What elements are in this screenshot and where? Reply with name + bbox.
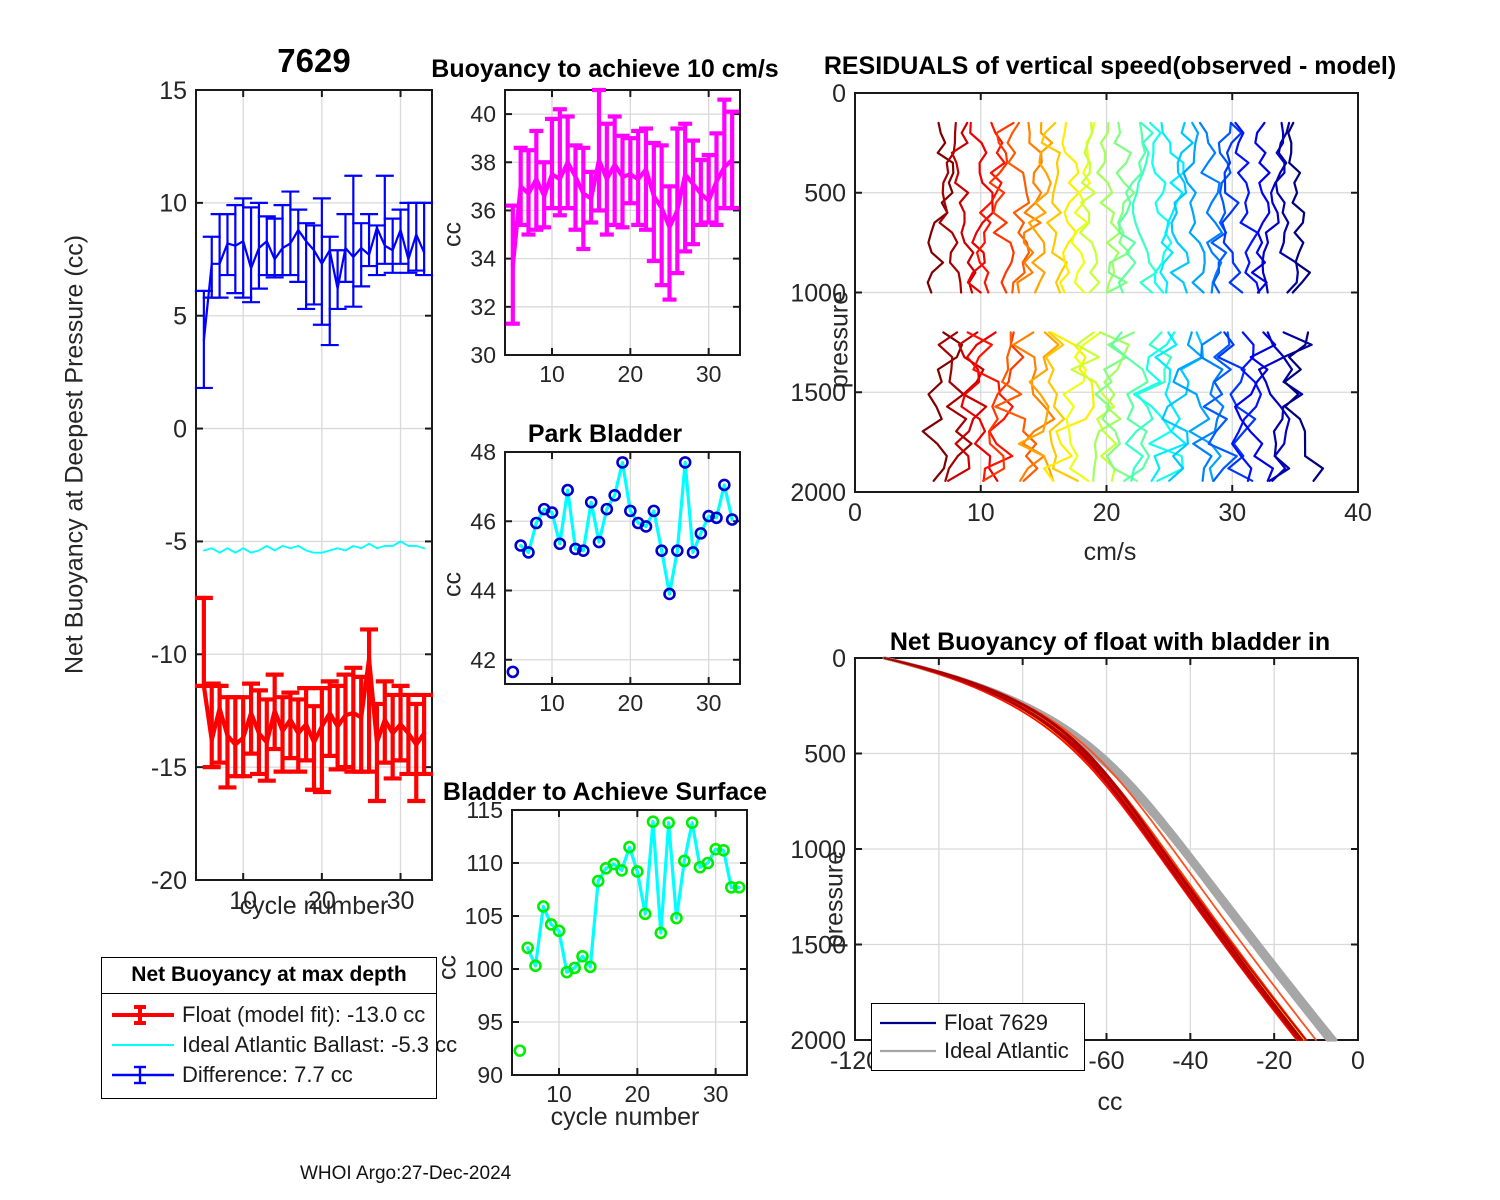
axis-label-x-bladder: cycle number	[485, 1103, 765, 1132]
chart-bladder-surface: 1020309095100105110115	[430, 778, 780, 1138]
data-layer-buoyancy	[506, 90, 739, 324]
tick-label-y: 32	[470, 294, 496, 320]
tick-label-y: 0	[173, 415, 187, 443]
tick-label-y: 2000	[790, 479, 846, 507]
footer-stamp: WHOI Argo:27-Dec-2024	[300, 1163, 511, 1185]
residual-profile-lower	[1112, 332, 1149, 480]
tick-label-y: 36	[470, 198, 496, 224]
tick-label-y: 34	[470, 246, 496, 272]
tick-label-y: 38	[470, 149, 496, 175]
tick-label-y: 100	[465, 956, 503, 982]
residual-profile-upper	[1072, 123, 1094, 293]
panel-park-bladder: Park Bladder 10203042444648 cc	[440, 420, 770, 750]
tick-label-y: 42	[470, 647, 496, 673]
axis-label-y-bladder-in: pressure	[821, 790, 850, 1010]
legend-label-ideal-atlantic: Ideal Atlantic	[944, 1038, 1069, 1064]
tick-label-y: 5	[173, 302, 187, 330]
ideal-ballast-line	[204, 541, 424, 552]
panel-title-bladder-in: Net Buoyancy of float with bladder in	[810, 628, 1410, 657]
residual-profile-upper	[1029, 123, 1052, 293]
tick-label-x: 0	[1351, 1047, 1365, 1075]
axes-box	[505, 452, 740, 684]
legend-label-float-7629: Float 7629	[944, 1010, 1048, 1036]
tick-label-y: 44	[470, 578, 496, 604]
panel-title-residuals: RESIDUALS of vertical speed(observed - m…	[810, 52, 1410, 81]
tick-label-y: 95	[477, 1009, 503, 1035]
tick-label-y: 0	[832, 80, 846, 108]
chart-park-bladder: 10203042444648	[440, 420, 770, 750]
tick-label-x: 10	[967, 499, 995, 527]
data-layer-park	[508, 457, 737, 676]
tick-label-y: 15	[159, 77, 187, 105]
axis-label-y-bladder: cc	[434, 918, 463, 1018]
legend-item-difference[interactable]: Difference: 7.7 cc	[110, 1060, 428, 1090]
tick-label-x: 20	[618, 690, 644, 716]
errorbar-series-difference	[195, 176, 433, 388]
axis-label-x-bladder-in: cc	[855, 1088, 1365, 1117]
legend-swatch-float	[878, 1013, 938, 1033]
axis-label-y-main: Net Buoyancy at Deepest Pressure (cc)	[61, 125, 90, 785]
legend-net-buoyancy-max-depth: Net Buoyancy at max depth Float (model f…	[101, 957, 437, 1099]
tick-label-y: 105	[465, 903, 503, 929]
legend-item-ideal-ballast[interactable]: Ideal Atlantic Ballast: -5.3 cc	[110, 1030, 428, 1060]
tick-label-x: -20	[1256, 1047, 1292, 1075]
axis-label-x-residuals: cm/s	[855, 538, 1365, 567]
tick-label-x: 30	[1218, 499, 1246, 527]
residual-profile-lower	[1019, 332, 1059, 480]
residual-profile-upper	[1107, 123, 1134, 293]
tick-label-y: 2000	[790, 1027, 846, 1055]
tick-label-y: 10	[159, 190, 187, 218]
tick-label-y: 30	[470, 342, 496, 368]
axis-label-x-main: cycle number	[196, 892, 432, 921]
tick-label-x: 10	[539, 690, 565, 716]
chart-residuals: 0102030400500100015002000	[790, 50, 1410, 570]
legend-swatch-line-cyan	[110, 1032, 176, 1058]
axes-bladder_surface: 1020309095100105110115	[465, 797, 747, 1107]
tick-label-y: 110	[466, 850, 503, 876]
residual-profile-upper	[1008, 123, 1029, 293]
data-layer-main	[195, 176, 433, 801]
axis-label-y-residuals: pressure	[826, 230, 855, 450]
errorbar-series-buoyancy	[506, 90, 739, 324]
legend-item-ideal-atlantic[interactable]: Ideal Atlantic	[878, 1037, 1078, 1065]
errorbar-series-float-(model-fit)	[195, 598, 433, 801]
panel-net-buoyancy-bladder-in: Net Buoyancy of float with bladder in -1…	[790, 620, 1410, 1140]
page-title: 7629	[196, 42, 432, 80]
data-marker	[508, 667, 518, 677]
legend-label-ideal-ballast: Ideal Atlantic Ballast: -5.3 cc	[182, 1032, 457, 1058]
tick-label-x: 30	[696, 361, 722, 387]
residual-profile-upper	[928, 123, 954, 293]
legend-swatch-errorbar-blue	[110, 1062, 176, 1088]
legend-swatch-errorbar-red	[110, 1002, 176, 1028]
tick-label-x: 0	[848, 499, 862, 527]
axes-park_bladder: 10203042444648	[470, 439, 740, 716]
tick-label-x: 30	[696, 690, 722, 716]
tick-label-x: 20	[618, 361, 644, 387]
tick-label-y: -5	[165, 528, 187, 556]
tick-label-x: 20	[1093, 499, 1121, 527]
residual-profile-lower	[1174, 332, 1221, 480]
tick-label-y: 90	[477, 1062, 503, 1088]
tick-label-y: 500	[804, 740, 846, 768]
chart-buoyancy-10cms: 102030303234363840	[440, 55, 770, 405]
tick-label-x: 10	[539, 361, 565, 387]
tick-label-x: -60	[1088, 1047, 1124, 1075]
legend-item-float[interactable]: Float (model fit): -13.0 cc	[110, 1000, 428, 1030]
residual-profile-upper	[1276, 123, 1298, 293]
legend-swatch-ideal	[878, 1041, 938, 1061]
axes-residuals: 0102030400500100015002000	[790, 80, 1372, 527]
tick-label-x: -40	[1172, 1047, 1208, 1075]
tick-label-y: 46	[470, 508, 496, 534]
tick-label-y: 500	[804, 180, 846, 208]
panel-title-park-bladder: Park Bladder	[440, 420, 770, 449]
residual-profile-lower	[1096, 332, 1137, 480]
residual-profile-upper	[1288, 123, 1310, 293]
panel-title-bladder-surface: Bladder to Achieve Surface	[430, 778, 780, 807]
residual-profile-upper	[952, 123, 975, 293]
residual-profile-upper	[1080, 123, 1099, 293]
axis-label-y-park: cc	[439, 535, 468, 635]
legend-label-float: Float (model fit): -13.0 cc	[182, 1002, 425, 1028]
legend-item-float-7629[interactable]: Float 7629	[878, 1009, 1078, 1037]
panel-bladder-surface: Bladder to Achieve Surface 1020309095100…	[430, 778, 780, 1138]
axis-label-y-buoyancy: cc	[439, 185, 468, 285]
legend-label-difference: Difference: 7.7 cc	[182, 1062, 353, 1088]
data-layer-bladder	[515, 817, 744, 1056]
residual-profile-upper	[1236, 123, 1260, 293]
residual-profile-upper	[1252, 123, 1269, 293]
tick-label-y: -20	[151, 867, 187, 895]
residual-profile-lower	[1044, 332, 1094, 480]
tick-label-y: 40	[470, 101, 496, 127]
panel-residuals: RESIDUALS of vertical speed(observed - m…	[790, 50, 1410, 610]
data-marker	[515, 1046, 525, 1056]
tick-label-x: 40	[1344, 499, 1372, 527]
panel-net-buoyancy-deepest: 7629 102030-20-15-10-5051015 cycle numbe…	[0, 20, 460, 950]
residual-profile-lower	[939, 332, 972, 480]
residual-profile-upper	[1262, 123, 1284, 293]
legend-float-vs-ideal: Float 7629 Ideal Atlantic	[871, 1003, 1085, 1071]
tick-label-y: -15	[151, 754, 187, 782]
panel-title-buoyancy-10cms: Buoyancy to achieve 10 cm/s	[430, 55, 780, 84]
tick-label-y: -10	[151, 641, 187, 669]
legend-title: Net Buoyancy at max depth	[102, 958, 436, 994]
data-layer-residuals	[923, 123, 1323, 481]
panel-buoyancy-10cms: Buoyancy to achieve 10 cm/s 102030303234…	[440, 55, 770, 405]
